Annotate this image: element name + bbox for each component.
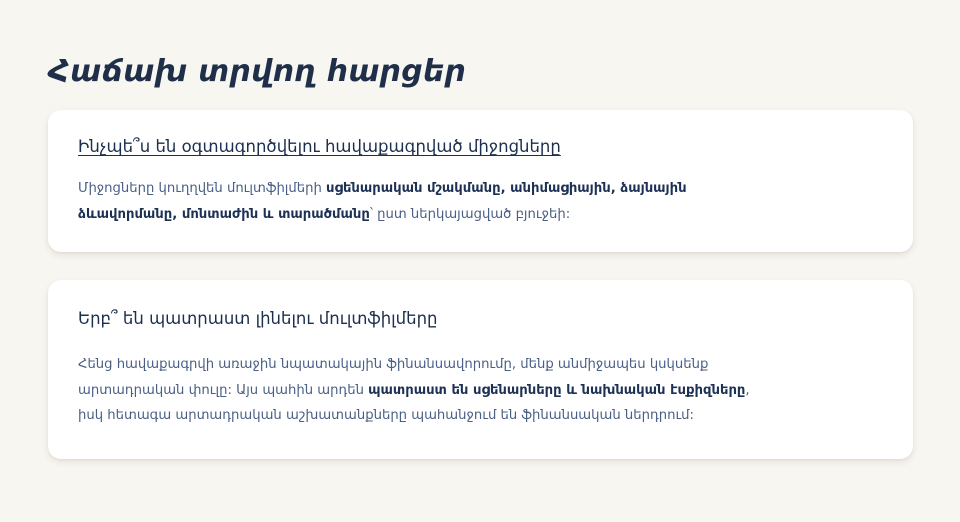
faq-item-1[interactable]: Ինչպե՞ս են օգտագործվելու հավաքագրված միջ… (48, 110, 913, 252)
answer-text: Միջոցները կուղղվեն մուլտֆիլմերի (78, 181, 326, 196)
faq-question-1[interactable]: Ինչպե՞ս են օգտագործվելու հավաքագրված միջ… (78, 136, 561, 158)
answer-emphasis: պատրաստ են սցենարները և նախնական էսքիզնե… (368, 383, 745, 398)
page-title: Հաճախ տրվող հարցեր (48, 54, 466, 90)
faq-item-2[interactable]: Երբ՞ են պատրաստ լինելու մուլտֆիլմերը Հեն… (48, 280, 913, 459)
faq-page: Հաճախ տրվող հարցեր Ինչպե՞ս են օգտագործվե… (0, 0, 960, 522)
faq-list: Ինչպե՞ս են օգտագործվելու հավաքագրված միջ… (48, 110, 913, 459)
faq-answer-1: Միջոցները կուղղվեն մուլտֆիլմերի սցենարակ… (78, 176, 778, 227)
faq-question-2[interactable]: Երբ՞ են պատրաստ լինելու մուլտֆիլմերը (78, 308, 437, 330)
faq-answer-2: Հենց հավաքագրվի առաջին նպատակային ֆինանս… (78, 352, 778, 429)
answer-text: ՝ ըստ ներկայացված բյուջեի: (370, 207, 570, 222)
